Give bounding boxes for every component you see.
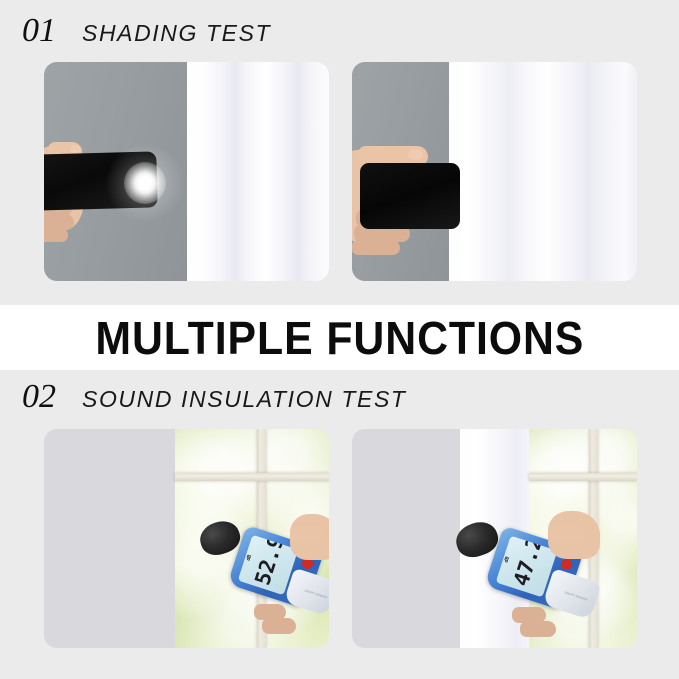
- window-mullion-horizontal: [175, 473, 329, 481]
- section-number-01: 01: [22, 14, 56, 48]
- headline-text: MULTIPLE FUNCTIONS: [95, 315, 584, 361]
- sound-level-meter: 52.9 dB SMART SENSOR: [192, 518, 329, 640]
- photo-shading-flashlight-blocked: [352, 62, 637, 281]
- finger-grip-2: [520, 621, 556, 637]
- finger-pinky: [44, 228, 68, 242]
- meter-power-button: [561, 559, 572, 570]
- section-header-01: 01 SHADING TEST: [0, 14, 679, 48]
- curtain-panel: [449, 62, 637, 281]
- finger-thumb: [291, 526, 325, 543]
- meter-unit-label: dB: [503, 556, 511, 564]
- section-header-02: 02 SOUND INSULATION TEST: [0, 380, 679, 414]
- photo-sound-open-window: 52.9 dB SMART SENSOR: [44, 429, 329, 648]
- finger-pinky: [352, 240, 400, 255]
- sound-level-meter: 47.2 dB SMART SENSOR: [452, 517, 600, 643]
- fingernail: [408, 149, 423, 160]
- photo-shading-flashlight-on: [44, 62, 329, 281]
- flashlight-beam: [124, 162, 166, 204]
- curtain-panel: [187, 62, 330, 281]
- headline-banner: MULTIPLE FUNCTIONS: [0, 305, 679, 370]
- section-title-02: SOUND INSULATION TEST: [82, 388, 407, 411]
- window-mullion-horizontal: [529, 473, 637, 481]
- meter-unit-label: dB: [246, 554, 254, 562]
- section-title-01: SHADING TEST: [82, 22, 271, 45]
- photo-sound-behind-curtain: 47.2 dB SMART SENSOR: [352, 429, 637, 648]
- finger-grip-2: [262, 618, 296, 634]
- smartphone: [360, 163, 460, 229]
- section-number-02: 02: [22, 380, 56, 414]
- finger-thumb: [548, 525, 586, 543]
